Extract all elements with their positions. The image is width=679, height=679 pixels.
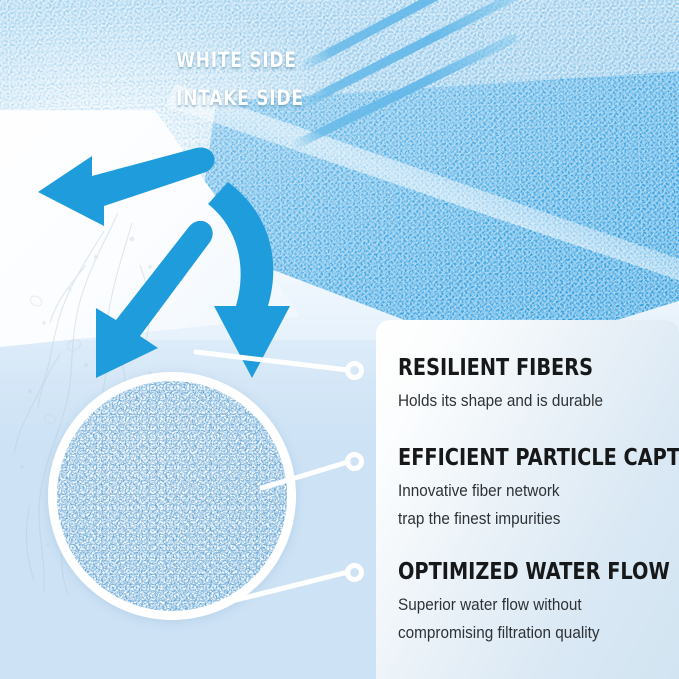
arrow-out-upper-left-icon — [38, 147, 215, 226]
feature-panel: RESILIENT FIBERS Holds its shape and is … — [376, 320, 679, 679]
feature-description-line: trap the finest impurities — [398, 505, 642, 533]
fiber-mesh-texture-detail — [57, 381, 287, 611]
callout-marker-2 — [345, 452, 364, 471]
feature-item-resilient-fibers: RESILIENT FIBERS Holds its shape and is … — [398, 356, 669, 415]
feature-description-line: compromising filtration quality — [398, 619, 642, 647]
arrow-into-magnifier-icon — [208, 182, 290, 378]
feature-description-line: Holds its shape and is durable — [398, 387, 642, 415]
arrow-out-lower-left-icon — [96, 221, 213, 378]
feature-title: OPTIMIZED WATER FLOW — [398, 560, 626, 584]
feature-item-efficient-particle-capture: EFFICIENT PARTICLE CAPTURE Innovative fi… — [398, 446, 669, 532]
feature-description-line: Superior water flow without — [398, 591, 642, 619]
feature-title: EFFICIENT PARTICLE CAPTURE — [398, 446, 626, 470]
feature-item-optimized-water-flow: OPTIMIZED WATER FLOW Superior water flow… — [398, 560, 669, 646]
pad-label-intake-side: INTAKE SIDE — [176, 86, 304, 110]
feature-title: RESILIENT FIBERS — [398, 356, 626, 380]
feature-description-line: Innovative fiber network — [398, 477, 642, 505]
callout-marker-3 — [345, 563, 364, 582]
callout-marker-1 — [345, 361, 364, 380]
pad-label-white-side: WHITE SIDE — [176, 48, 297, 72]
infographic-canvas: WHITE SIDE INTAKE SIDE — [0, 0, 679, 679]
fiber-closeup-magnifier — [48, 372, 296, 620]
